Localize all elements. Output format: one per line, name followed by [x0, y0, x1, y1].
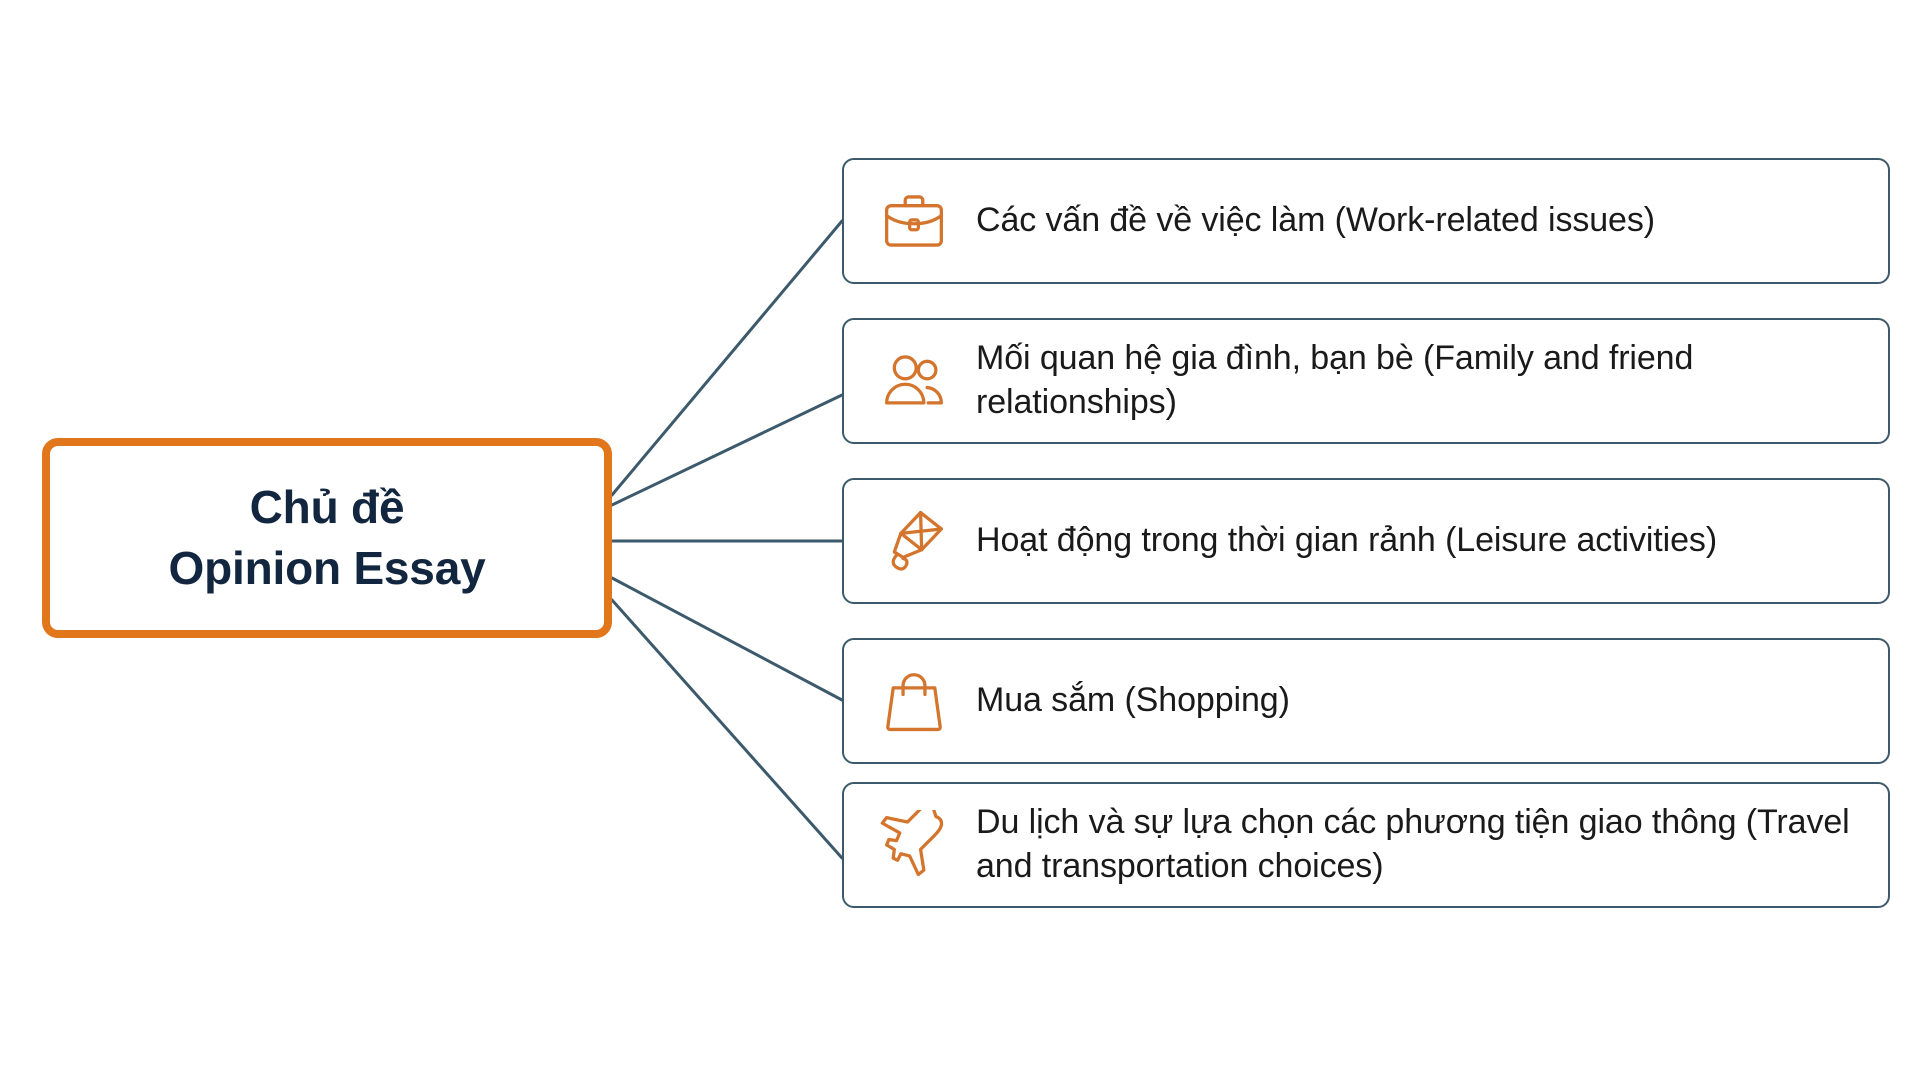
- branch-label-work: Các vấn đề về việc làm (Work-related iss…: [976, 199, 1888, 243]
- airplane-icon: [866, 810, 962, 880]
- connector-line-2: [612, 395, 842, 505]
- briefcase-icon: [866, 186, 962, 256]
- branch-label-leisure: Hoạt động trong thời gian rảnh (Leisure …: [976, 519, 1888, 563]
- branch-label-travel: Du lịch và sự lựa chọn các phương tiện g…: [976, 801, 1888, 888]
- branch-label-family: Mối quan hệ gia đình, bạn bè (Family and…: [976, 337, 1888, 424]
- root-title-english: Opinion Essay: [169, 538, 486, 599]
- root-node[interactable]: Chủ đề Opinion Essay: [42, 438, 612, 638]
- mindmap-diagram: Chủ đề Opinion Essay Các vấn đề về việc …: [0, 0, 1920, 1080]
- people-icon: [866, 346, 962, 416]
- connector-line-4: [612, 578, 842, 700]
- kite-icon: [866, 506, 962, 576]
- branch-card-work[interactable]: Các vấn đề về việc làm (Work-related iss…: [842, 158, 1890, 284]
- shopping-bag-icon: [866, 666, 962, 736]
- root-title-vietnamese: Chủ đề: [250, 477, 405, 538]
- connector-line-1: [612, 221, 842, 495]
- branch-card-shopping[interactable]: Mua sắm (Shopping): [842, 638, 1890, 764]
- connector-line-5: [612, 600, 842, 858]
- branch-label-shopping: Mua sắm (Shopping): [976, 679, 1888, 723]
- branch-card-leisure[interactable]: Hoạt động trong thời gian rảnh (Leisure …: [842, 478, 1890, 604]
- branch-card-family[interactable]: Mối quan hệ gia đình, bạn bè (Family and…: [842, 318, 1890, 444]
- branch-card-travel[interactable]: Du lịch và sự lựa chọn các phương tiện g…: [842, 782, 1890, 908]
